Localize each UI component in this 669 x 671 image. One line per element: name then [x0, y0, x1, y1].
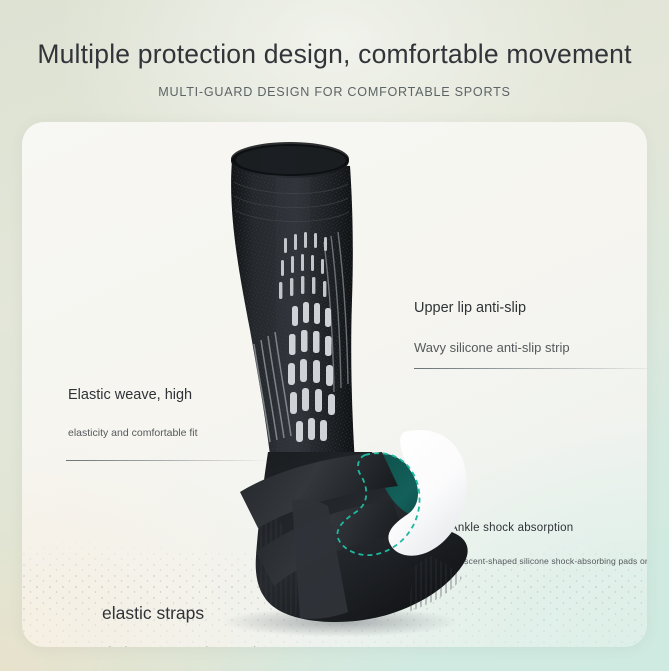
- annotation-ankle-shock-sub: Crescent-shaped silicone shock-absorbing…: [450, 556, 647, 566]
- annotation-elastic-straps-sub: Elastic strap compression protection: [102, 646, 290, 647]
- annotation-elastic-weave: Elastic weave, high elasticity and comfo…: [68, 387, 271, 461]
- annotation-elastic-straps: elastic straps Elastic strap compression…: [102, 603, 290, 647]
- annotation-ankle-shock-heading: Ankle shock absorption: [450, 522, 647, 534]
- annotation-upper-lip-sub: Wavy silicone anti-slip strip: [414, 340, 647, 355]
- annotation-ankle-shock: Ankle shock absorption Crescent-shaped s…: [450, 522, 647, 566]
- annotation-elastic-weave-heading: Elastic weave, high: [68, 387, 271, 403]
- page-title: Multiple protection design, comfortable …: [0, 0, 669, 70]
- header: Multiple protection design, comfortable …: [0, 0, 669, 100]
- annotation-upper-lip-rule: [414, 368, 647, 369]
- annotation-elastic-weave-rule: [66, 460, 271, 461]
- annotation-elastic-straps-heading: elastic straps: [102, 603, 290, 624]
- product-card: Upper lip anti-slip Wavy silicone anti-s…: [22, 122, 647, 647]
- annotation-upper-lip: Upper lip anti-slip Wavy silicone anti-s…: [414, 300, 647, 369]
- annotation-upper-lip-heading: Upper lip anti-slip: [414, 300, 647, 316]
- page-subtitle: MULTI-GUARD DESIGN FOR COMFORTABLE SPORT…: [0, 70, 669, 100]
- infographic-stage: Multiple protection design, comfortable …: [0, 0, 669, 671]
- annotation-elastic-weave-sub: elasticity and comfortable fit: [68, 427, 271, 439]
